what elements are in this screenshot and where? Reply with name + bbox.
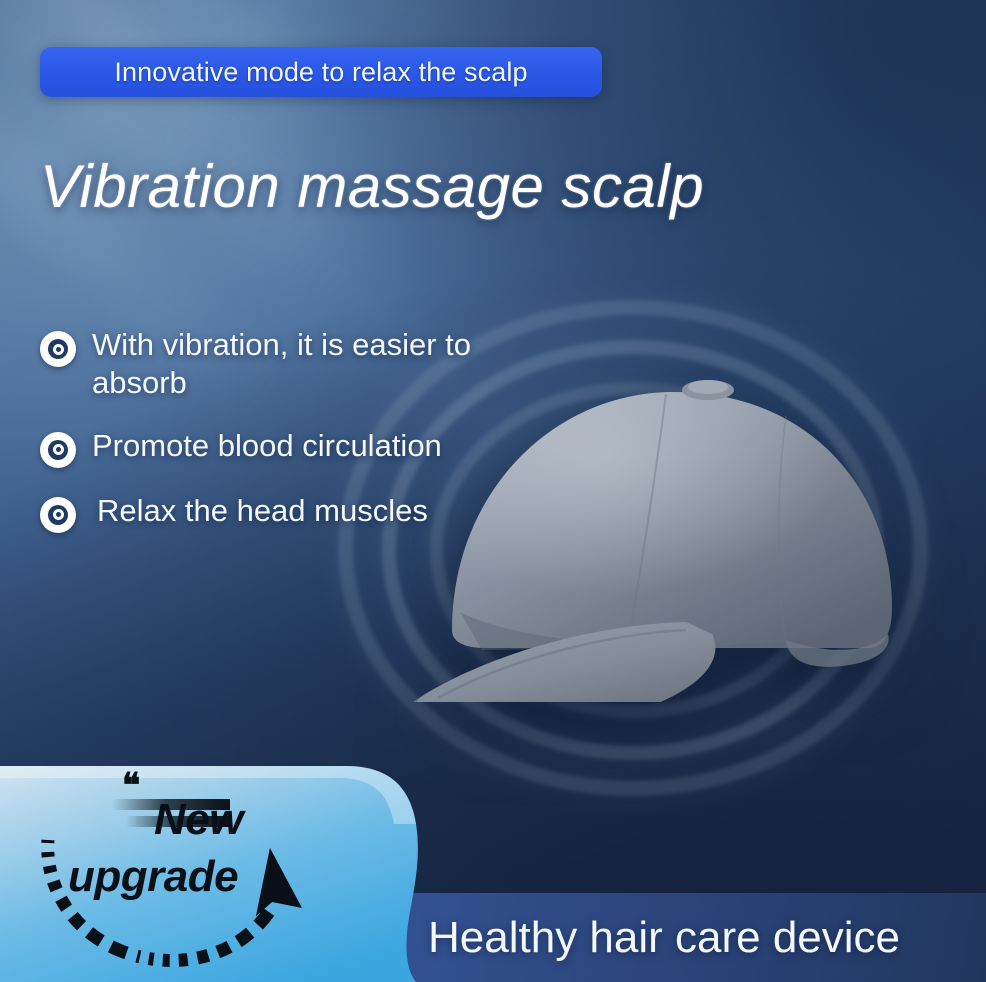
feature-list: With vibration, it is easier to absorb P… [40, 326, 560, 557]
tagline-banner: Innovative mode to relax the scalp [40, 47, 602, 97]
list-item: With vibration, it is easier to absorb [40, 326, 560, 403]
bullseye-icon [40, 497, 76, 533]
product-poster: Innovative mode to relax the scalp Vibra… [0, 0, 986, 982]
page-title: Vibration massage scalp [40, 152, 704, 221]
list-item: Promote blood circulation [40, 427, 560, 468]
feature-label: With vibration, it is easier to absorb [92, 326, 560, 403]
curved-arrow-icon [34, 830, 324, 980]
bullseye-icon [40, 432, 76, 468]
list-item: Relax the head muscles [40, 492, 560, 533]
bullseye-icon [40, 331, 76, 367]
footer-text: Healthy hair care device [428, 913, 900, 963]
feature-label: Promote blood circulation [92, 427, 442, 465]
feature-label: Relax the head muscles [92, 492, 428, 530]
quote-mark-icon: ❝ [122, 770, 140, 804]
tagline-text: Innovative mode to relax the scalp [114, 57, 527, 88]
